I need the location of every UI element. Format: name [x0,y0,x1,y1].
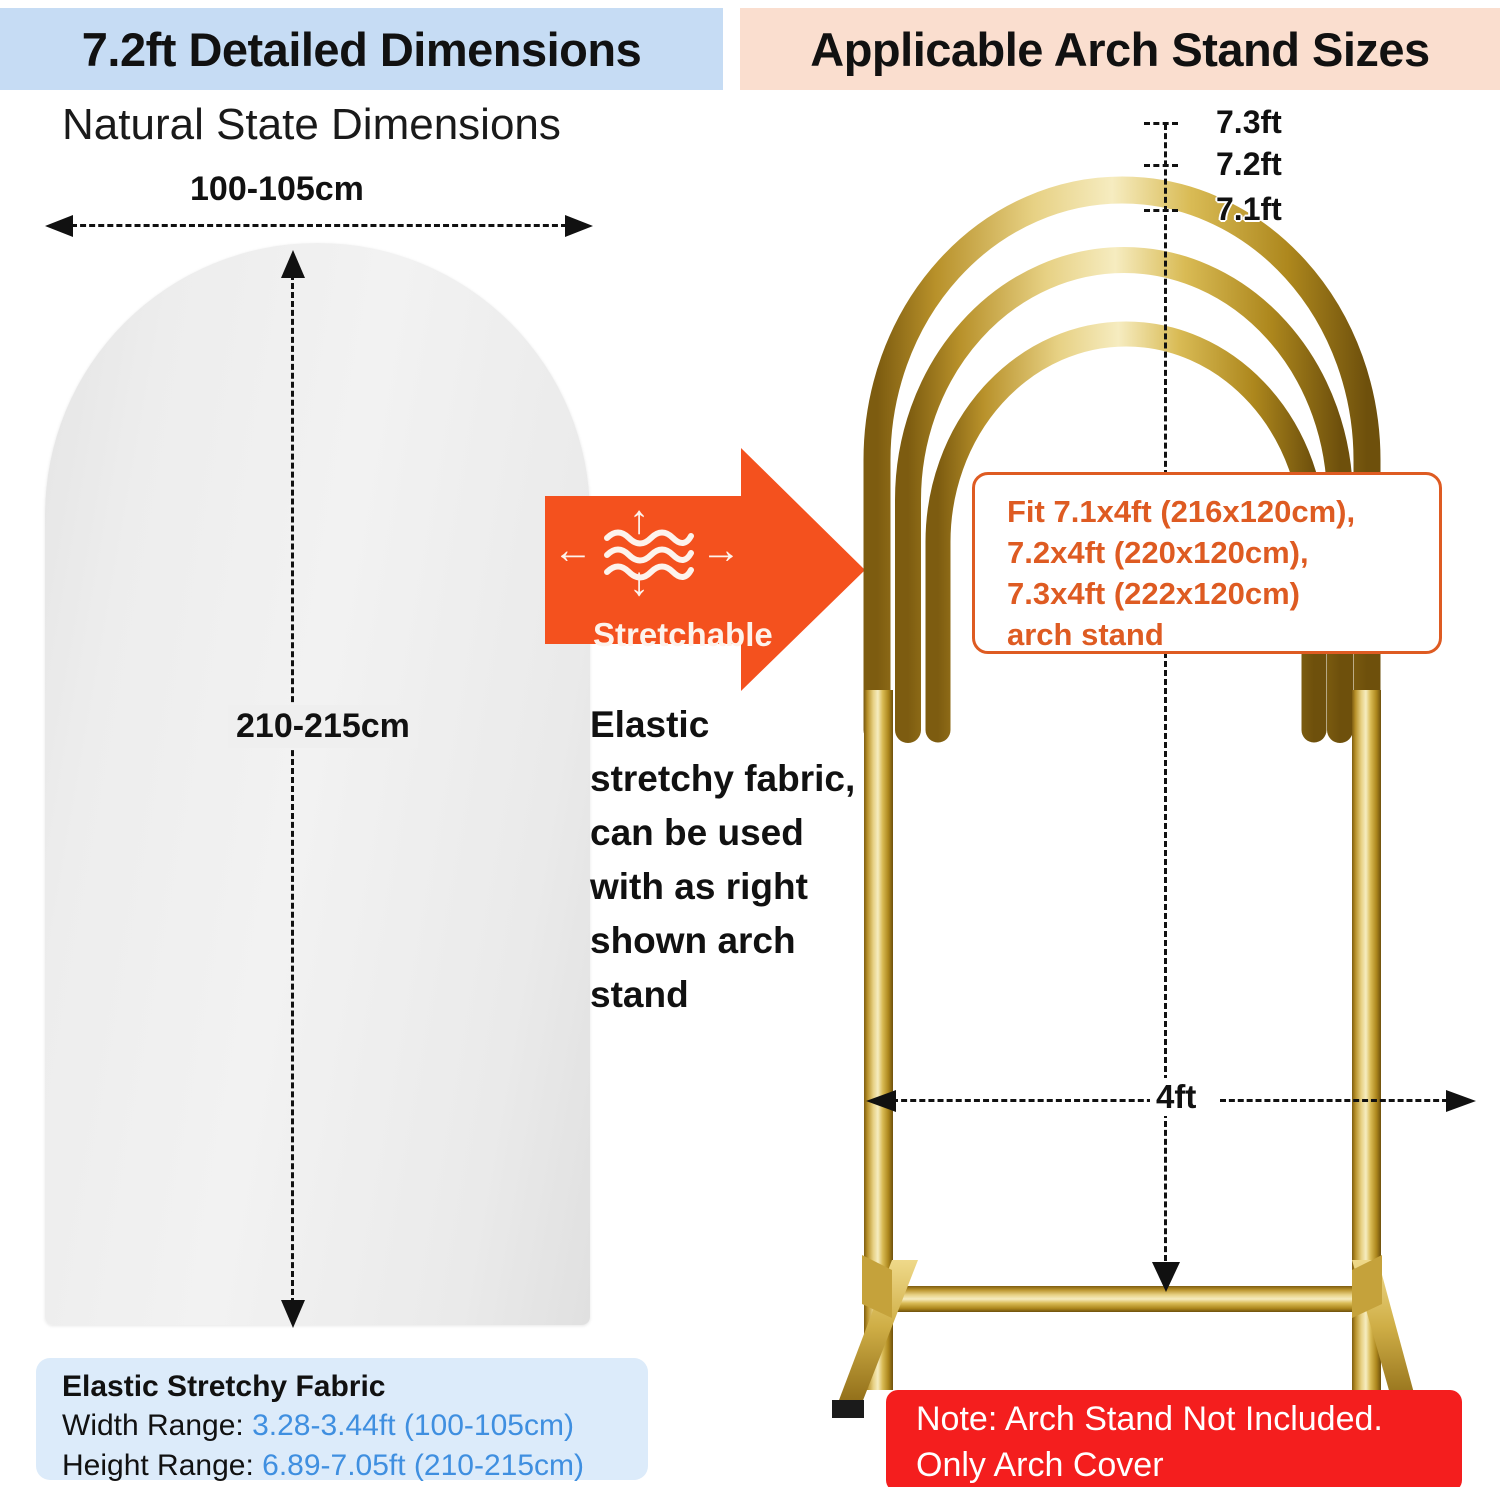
arrow-head-left-icon [45,215,73,237]
arch-fabric-cover-shape [45,243,590,1325]
fit-sizes-box: Fit 7.1x4ft (216x120cm), 7.2x4ft (220x12… [972,472,1442,654]
height-dimension-arrow [281,250,305,1328]
dashed-line [71,224,567,227]
arch-height-label-7-1ft: 7.1ft [1216,191,1282,228]
dashed-line-left [892,1099,1162,1102]
stretch-left-arrow-icon: ← [553,530,593,570]
height-dimension-label: 210-215cm [228,705,418,748]
arch-height-label-7-3ft: 7.3ft [1216,104,1282,141]
fabric-info-box: Elastic Stretchy Fabric Width Range: 3.2… [36,1358,648,1480]
wavy-fabric-icon [603,524,695,586]
foot-cap-left [832,1400,864,1418]
header-title-left: 7.2ft Detailed Dimensions [82,22,642,77]
dashed-line-right [1220,1099,1448,1102]
center-dashed-line-middle [1164,652,1167,1090]
tick-7-2ft [1144,164,1178,167]
fabric-info-title: Elastic Stretchy Fabric [62,1368,622,1406]
stand-width-label: 4ft [1150,1078,1202,1116]
header-bar-left: 7.2ft Detailed Dimensions [0,8,723,90]
tick-7-1ft [1144,209,1178,212]
center-dashed-line-upper [1164,124,1167,476]
infographic-root: 7.2ft Detailed Dimensions Applicable Arc… [0,0,1500,1487]
stretch-direction-icons: ↑ ↓ ← → [551,500,741,620]
width-dimension-label: 100-105cm [190,170,364,209]
width-range-value: 3.28-3.44ft (100-105cm) [252,1409,574,1442]
arch-stand-frame [740,90,1500,1487]
base-crossbar [880,1286,1365,1312]
stretch-right-arrow-icon: → [701,530,741,570]
height-range-label: Height Range: [62,1449,262,1482]
width-dimension-arrow [45,215,593,237]
center-dashed-line-lower [1164,1112,1167,1270]
tick-7-3ft [1144,122,1178,125]
arch-height-label-7-2ft: 7.2ft [1216,146,1282,183]
fabric-width-range-row: Width Range: 3.28-3.44ft (100-105cm) [62,1406,622,1446]
center-arrow-head-down-icon [1152,1262,1180,1292]
height-range-value: 6.89-7.05ft (210-215cm) [262,1449,584,1482]
arch-stand-illustration: 7.3ft 7.2ft 7.1ft Fit 7.1x4ft (216x120cm… [740,90,1500,1487]
note-line-2: Only Arch Cover [916,1442,1462,1487]
fit-line-2: 7.2x4ft (220x120cm), [1007,532,1439,573]
arrow-head-right-icon [1446,1090,1476,1112]
dashed-line [291,274,294,1304]
fit-line-1: Fit 7.1x4ft (216x120cm), [1007,491,1439,532]
fit-line-3: 7.3x4ft (222x120cm) [1007,573,1439,614]
arch-stand-note-box: Note: Arch Stand Not Included. Only Arch… [886,1390,1462,1487]
width-range-label: Width Range: [62,1409,252,1442]
fit-line-4: arch stand [1007,614,1439,655]
note-line-1: Note: Arch Stand Not Included. [916,1396,1462,1442]
header-bar-right: Applicable Arch Stand Sizes [740,8,1500,90]
header-title-right: Applicable Arch Stand Sizes [810,22,1429,77]
arrow-head-down-icon [281,1300,305,1328]
natural-state-subtitle: Natural State Dimensions [62,100,561,150]
fabric-height-range-row: Height Range: 6.89-7.05ft (210-215cm) [62,1446,622,1486]
arrow-head-right-icon [565,215,593,237]
